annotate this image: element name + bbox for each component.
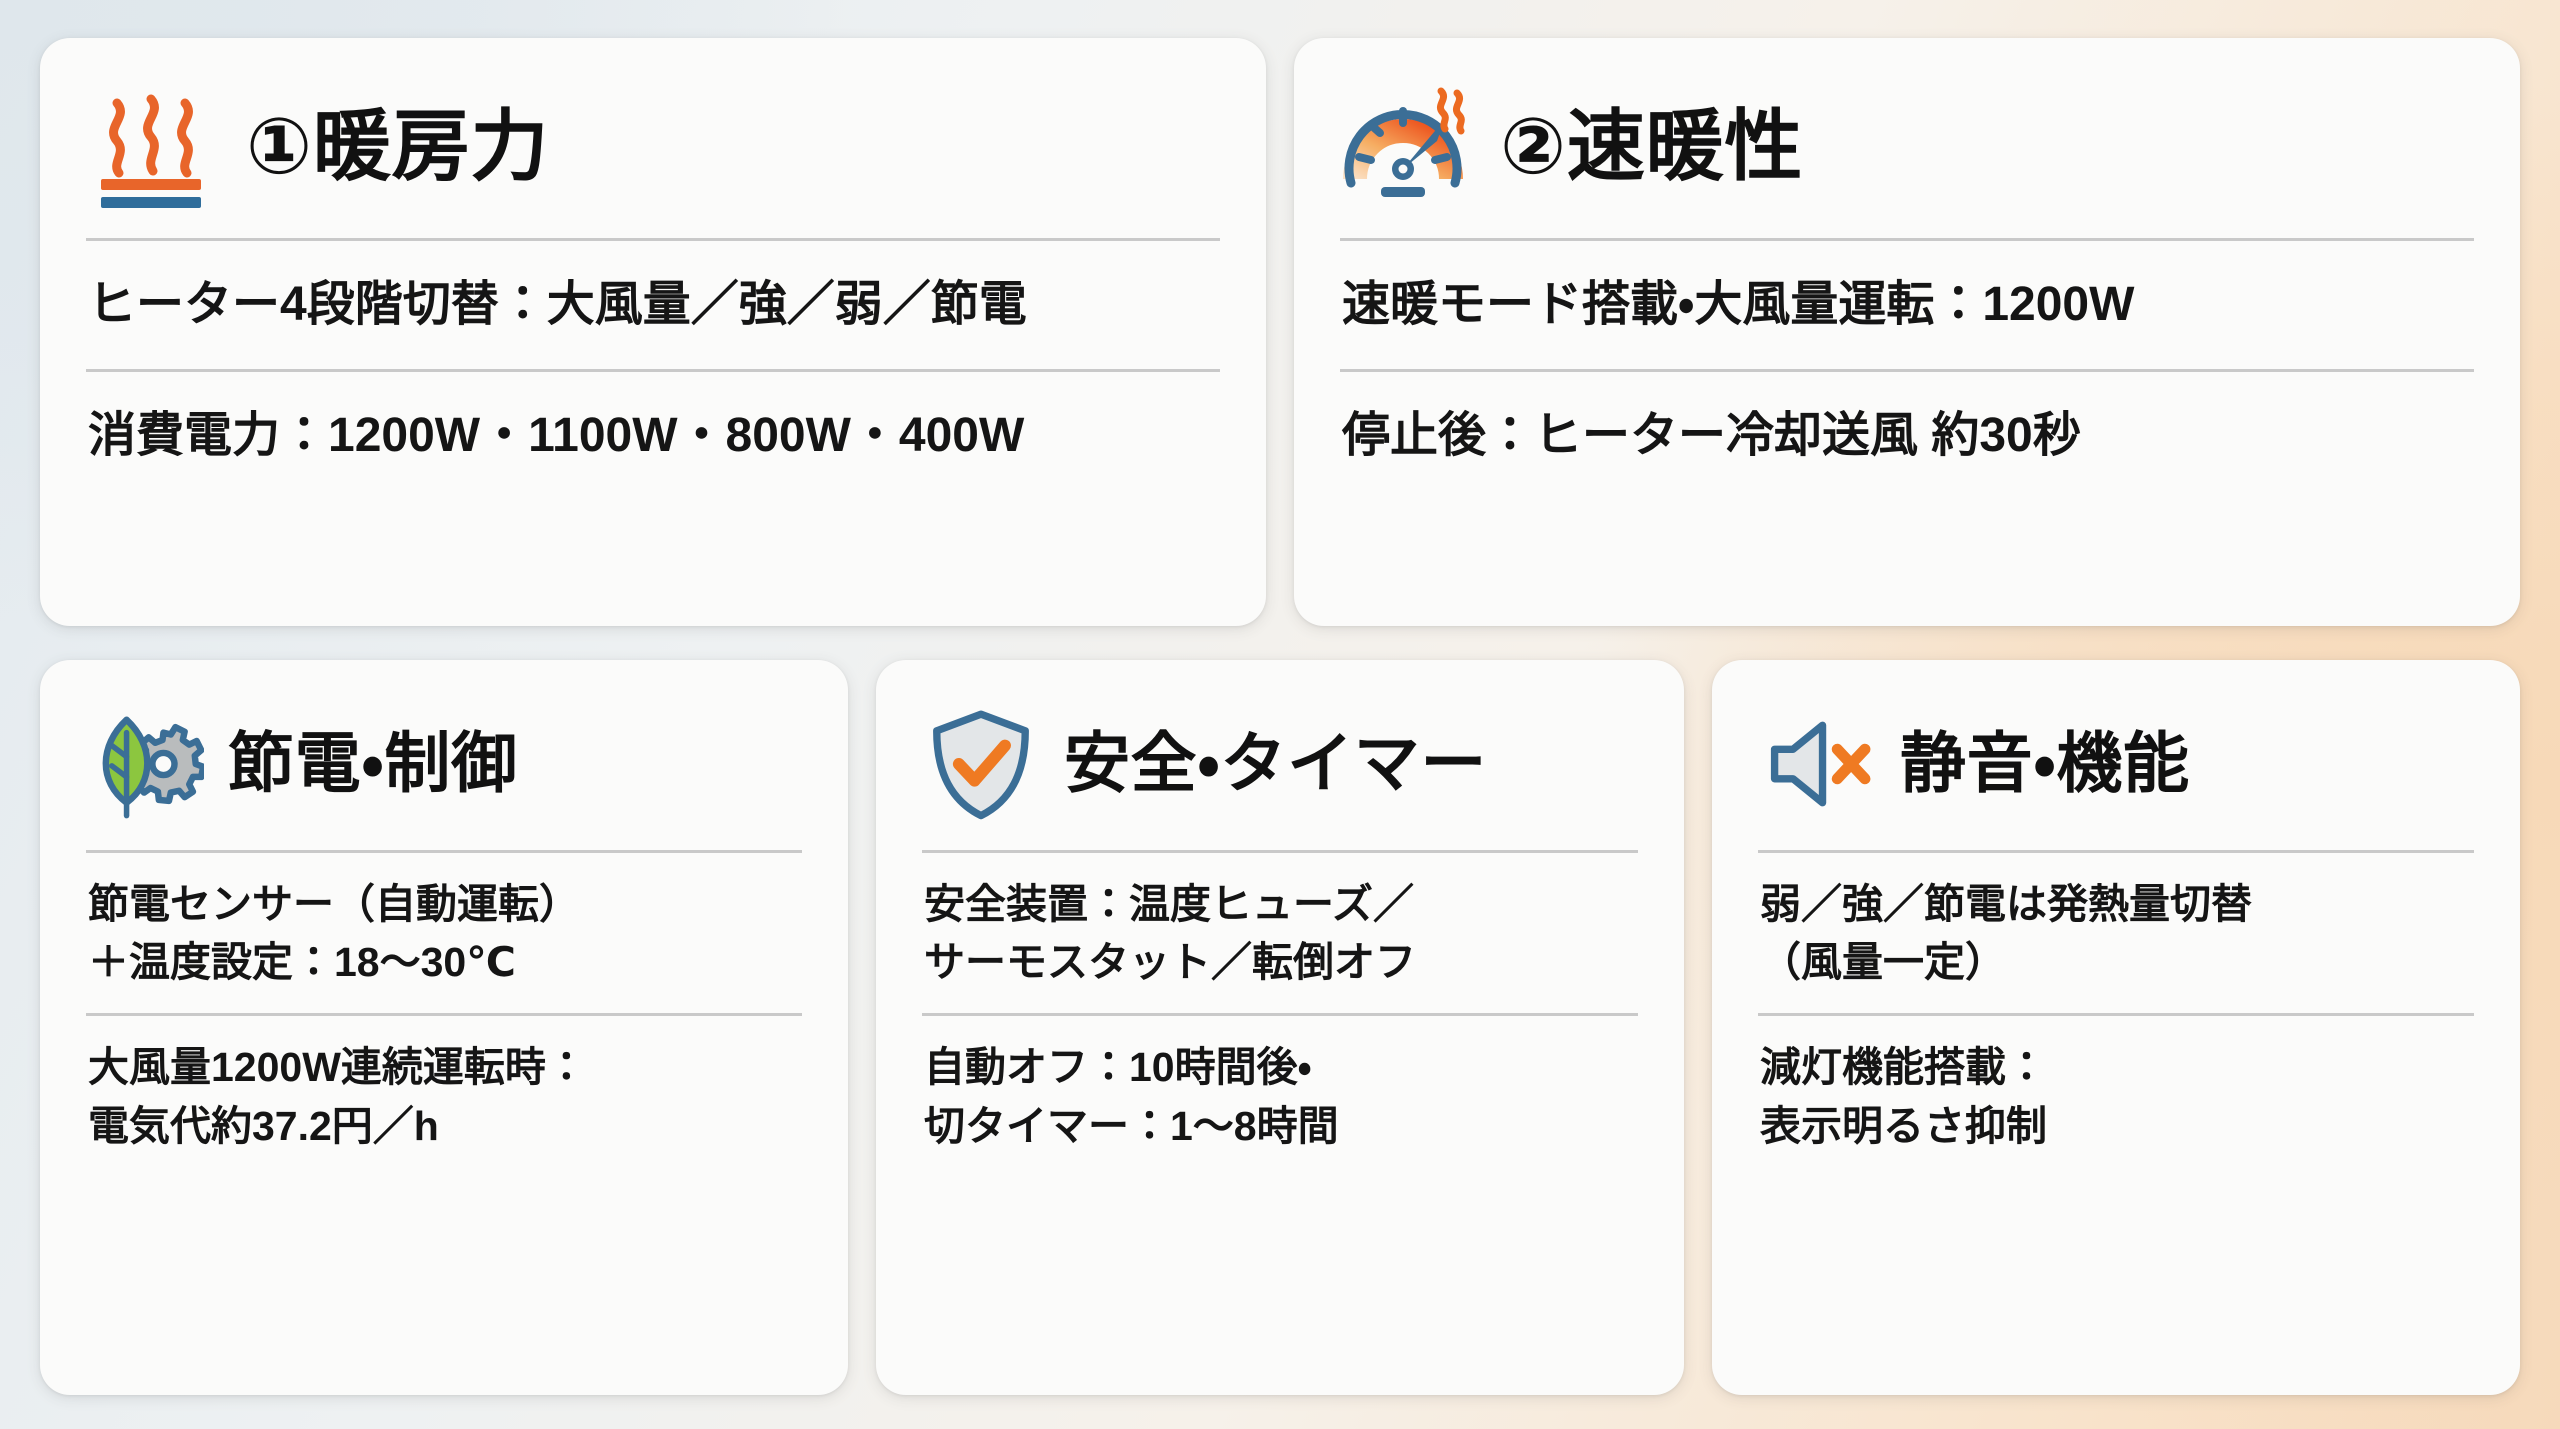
card-title: 静音・機能 <box>1900 729 2190 798</box>
fact-row: 消費電力：1200W・1100W・800W・400W <box>86 372 1220 480</box>
fact-row: 大風量1200W連続運転時： 電気代約37.2円／h <box>86 1016 802 1164</box>
fact-row: 停止後：ヒーター冷却送風 約30秒 <box>1340 372 2474 480</box>
card-header: 安全・タイマー <box>922 694 1638 834</box>
card-header: ②速暖性 <box>1340 72 2474 222</box>
card-header: 静音・機能 <box>1758 694 2474 834</box>
fact-row: 減灯機能搭載： 表示明るさ抑制 <box>1758 1016 2474 1164</box>
shield-check-icon <box>922 705 1040 823</box>
card-title: ①暖房力 <box>246 106 549 188</box>
card-quiet-functions: 静音・機能 弱／強／節電は発熱量切替 （風量一定） 減灯機能搭載： 表示明るさ抑… <box>1712 660 2520 1395</box>
leaf-gear-icon <box>86 705 204 823</box>
card-body: 節電センサー（自動運転） ＋温度設定：18〜30℃ 大風量1200W連続運転時：… <box>86 850 802 1165</box>
card-safety-timer: 安全・タイマー 安全装置：温度ヒューズ／ サーモスタット／転倒オフ 自動オフ：1… <box>876 660 1684 1395</box>
card-heating-power: ①暖房力 ヒーター4段階切替：大風量／強／弱／節電 消費電力：1200W・110… <box>40 38 1266 626</box>
fact-row: 速暖モード搭載・大風量運転：1200W <box>1340 241 2474 369</box>
fact-row: 安全装置：温度ヒューズ／ サーモスタット／転倒オフ <box>922 853 1638 1013</box>
card-row-top: ①暖房力 ヒーター4段階切替：大風量／強／弱／節電 消費電力：1200W・110… <box>40 38 2520 626</box>
feature-cards-page: ①暖房力 ヒーター4段階切替：大風量／強／弱／節電 消費電力：1200W・110… <box>0 0 2560 1429</box>
fact-row: 節電センサー（自動運転） ＋温度設定：18〜30℃ <box>86 853 802 1013</box>
fact-row: 弱／強／節電は発熱量切替 （風量一定） <box>1758 853 2474 1013</box>
card-body: 速暖モード搭載・大風量運転：1200W 停止後：ヒーター冷却送風 約30秒 <box>1340 238 2474 480</box>
card-title: 安全・タイマー <box>1064 729 1487 798</box>
fact-row: 自動オフ：10時間後・ 切タイマー：1〜8時間 <box>922 1016 1638 1164</box>
card-row-bottom: 節電・制御 節電センサー（自動運転） ＋温度設定：18〜30℃ 大風量1200W… <box>40 660 2520 1395</box>
card-body: 弱／強／節電は発熱量切替 （風量一定） 減灯機能搭載： 表示明るさ抑制 <box>1758 850 2474 1165</box>
card-body: 安全装置：温度ヒューズ／ サーモスタット／転倒オフ 自動オフ：10時間後・ 切タ… <box>922 850 1638 1165</box>
gauge-heat-icon <box>1340 82 1470 212</box>
speaker-mute-icon <box>1758 705 1876 823</box>
card-body: ヒーター4段階切替：大風量／強／弱／節電 消費電力：1200W・1100W・80… <box>86 238 1220 480</box>
card-header: 節電・制御 <box>86 694 802 834</box>
card-header: ①暖房力 <box>86 72 1220 222</box>
card-title: 節電・制御 <box>228 729 518 798</box>
heat-waves-icon <box>86 82 216 212</box>
card-fast-warming: ②速暖性 速暖モード搭載・大風量運転：1200W 停止後：ヒーター冷却送風 約3… <box>1294 38 2520 626</box>
fact-row: ヒーター4段階切替：大風量／強／弱／節電 <box>86 241 1220 369</box>
card-title: ②速暖性 <box>1500 106 1803 188</box>
card-power-saving-control: 節電・制御 節電センサー（自動運転） ＋温度設定：18〜30℃ 大風量1200W… <box>40 660 848 1395</box>
